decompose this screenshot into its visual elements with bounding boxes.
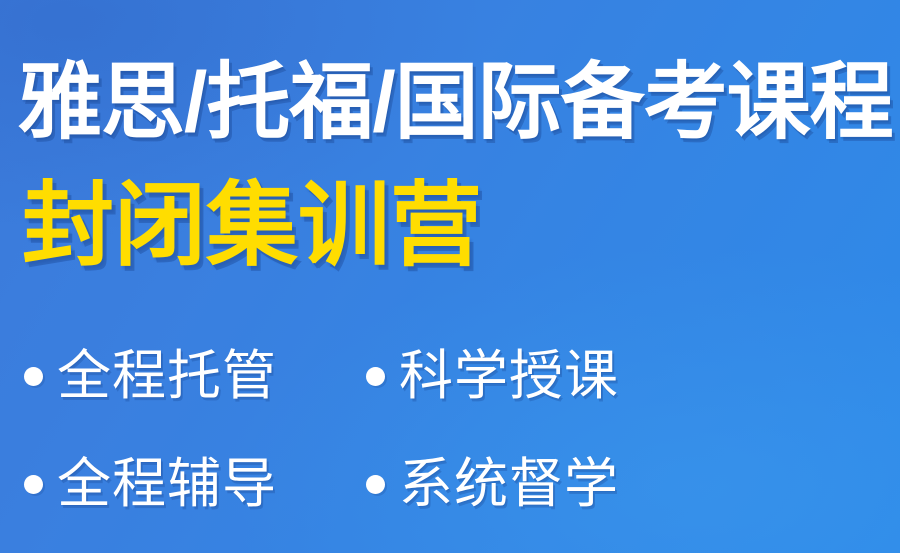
bullet-dot-icon [366,367,385,386]
feature-item-3: 全程辅导 [24,457,366,511]
feature-label-3: 全程辅导 [57,457,277,511]
bullet-dot-icon [366,475,385,494]
banner-content: 雅思/托福/国际备考课程 封闭集训营 全程托管 科学授课 全程辅导 系统督学 [0,0,900,553]
feature-item-4: 系统督学 [366,457,708,511]
course-promo-banner: 雅思/托福/国际备考课程 封闭集训营 全程托管 科学授课 全程辅导 系统督学 [0,0,900,553]
feature-item-1: 全程托管 [24,349,366,403]
feature-label-4: 系统督学 [399,457,619,511]
feature-list: 全程托管 科学授课 全程辅导 系统督学 [24,322,724,538]
feature-label-1: 全程托管 [57,349,277,403]
headline-secondary: 封闭集训营 [22,178,482,276]
headline-primary: 雅思/托福/国际备考课程 [18,58,894,147]
bullet-dot-icon [24,475,43,494]
feature-item-2: 科学授课 [366,349,708,403]
bullet-dot-icon [24,367,43,386]
feature-label-2: 科学授课 [399,349,619,403]
